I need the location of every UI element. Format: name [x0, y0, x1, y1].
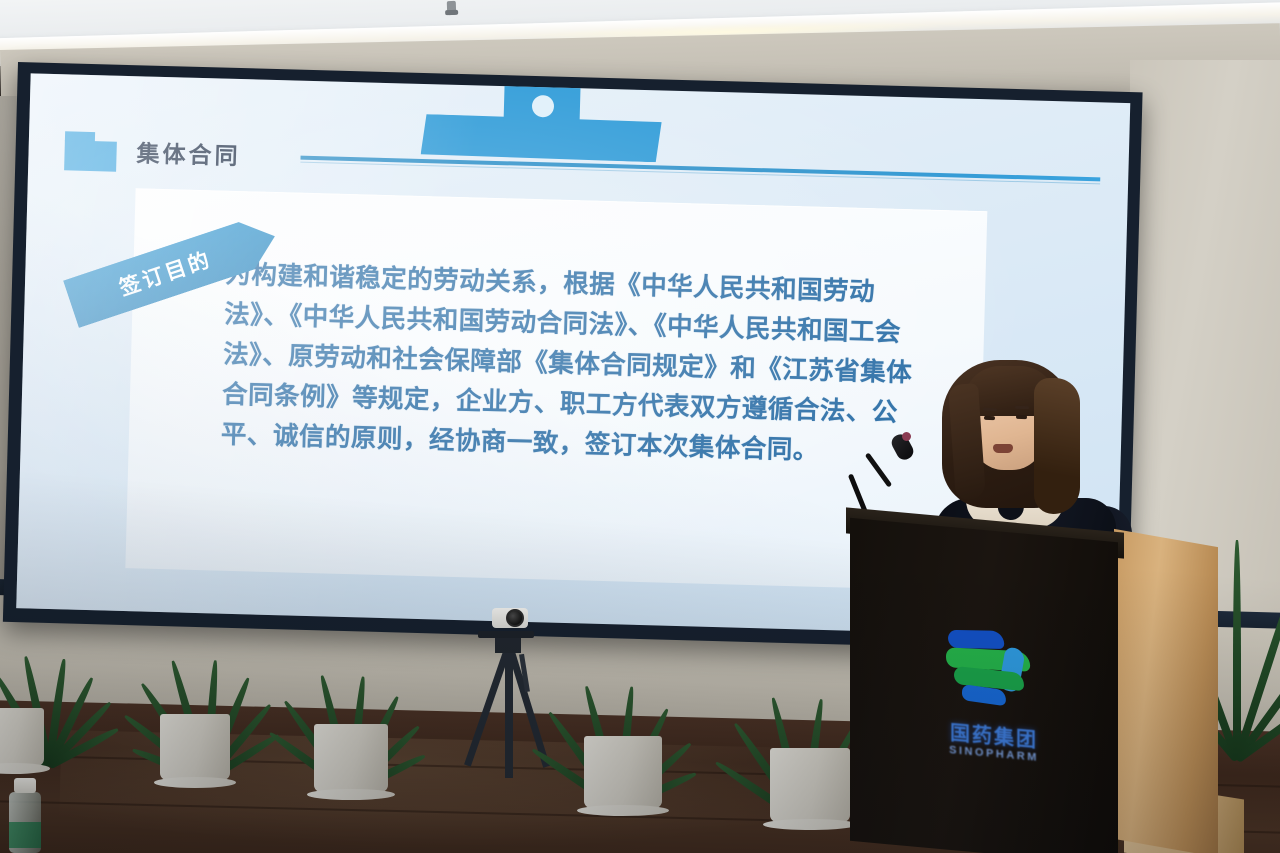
plant-pot	[160, 714, 230, 780]
potted-plant	[520, 622, 710, 808]
title-rule	[300, 156, 1100, 182]
podium-and-speaker: 国药集团 SINOPHARM	[838, 360, 1280, 853]
plant-pot	[0, 708, 44, 766]
tripod-leg	[464, 651, 510, 767]
logo-wave	[947, 630, 1004, 649]
folder-tab-icon	[64, 140, 117, 171]
plant-pot	[584, 736, 662, 808]
logo-mark	[942, 623, 1046, 718]
sprinkler-head-icon	[447, 1, 456, 15]
bottle-cap	[14, 778, 36, 793]
plant-pot	[314, 724, 388, 792]
slide-title: 集体合同	[136, 134, 241, 171]
potted-plant	[252, 612, 442, 792]
slide-body-text: 为构建和谐稳定的劳动关系，根据《中华人民共和国劳动法》、《中华人民共和国劳动合同…	[220, 255, 915, 474]
speaker-eye	[1016, 415, 1027, 419]
screenshot-stage: 集体合同 为构建和谐稳定的劳动关系，根据《中华人民共和国劳动法》、《中华人民共和…	[0, 0, 1280, 853]
speaker-mouth	[993, 444, 1013, 453]
sinopharm-wave-logo: 国药集团 SINOPHARM	[924, 622, 1064, 794]
water-bottle-icon	[8, 778, 42, 853]
speaker-eyebrow	[1015, 406, 1029, 409]
tripod-head	[495, 637, 521, 653]
clipboard-icon	[421, 82, 663, 162]
bottle-label	[9, 822, 41, 848]
tripod-leg	[505, 652, 513, 778]
title-rule-secondary	[300, 162, 1100, 185]
speaker-hair-side	[1034, 378, 1080, 514]
microphone-windscreen	[902, 432, 911, 441]
podium-side-panel	[1114, 529, 1218, 853]
speaker-eye	[984, 416, 995, 421]
microphone-gooseneck	[865, 452, 893, 487]
potted-plant	[0, 596, 120, 766]
